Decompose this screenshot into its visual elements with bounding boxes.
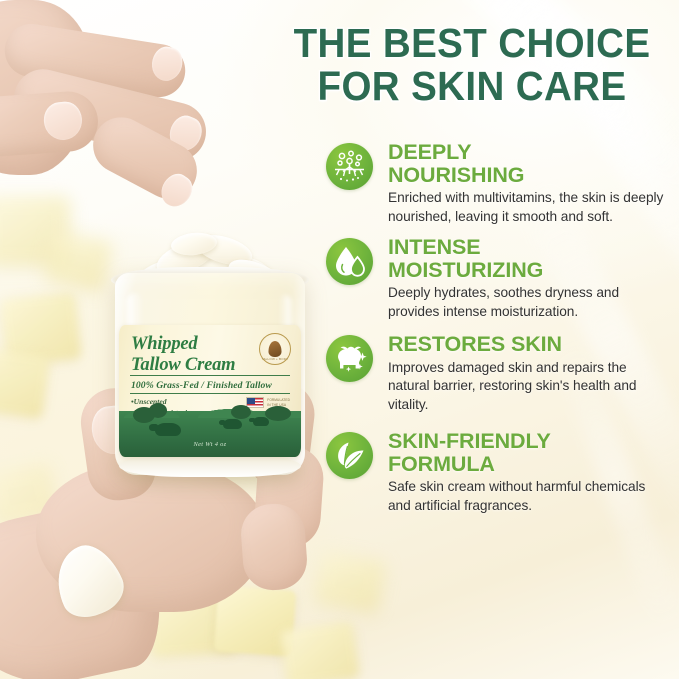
water-droplet-icon: [326, 238, 373, 285]
feature-item-intense-moisturizing: INTENSE MOISTURIZING Deeply hydrates, so…: [326, 236, 666, 321]
feature-list: DEEPLY NOURISHING Enriched with multivit…: [326, 141, 666, 519]
brand-seal: TALLOW + BODY: [259, 333, 291, 365]
page-title: THE BEST CHOICE FOR SKIN CARE: [284, 22, 660, 108]
net-weight-text: Net Wt 4 oz: [119, 441, 301, 448]
feature-body: Enriched with multivitamins, the skin is…: [388, 189, 666, 226]
label-product-name: Whipped Tallow Cream: [131, 334, 277, 376]
feature-item-restores-skin: RESTORES SKIN Improves damaged skin and …: [326, 333, 666, 414]
tree-shape: [149, 403, 167, 418]
feature-item-deeply-nourishing: DEEPLY NOURISHING Enriched with multivit…: [326, 141, 666, 226]
upper-hand: [0, 0, 240, 250]
label-divider: [130, 393, 290, 394]
feature-heading: SKIN-FRIENDLY FORMULA: [388, 430, 666, 475]
seal-droplet-icon: [269, 341, 282, 357]
jar-base: [119, 455, 301, 477]
cow-sparkle-icon: [326, 335, 373, 382]
feature-heading: RESTORES SKIN: [388, 333, 666, 356]
label-name-line1: Whipped: [131, 334, 197, 354]
feature-body: Safe skin cream without harmful chemical…: [388, 478, 666, 515]
leaves-icon: [326, 432, 373, 479]
label-subtitle: 100% Grass-Fed / Finished Tallow: [131, 380, 293, 391]
feature-item-skin-friendly-formula: SKIN-FRIENDLY FORMULA Safe skin cream wi…: [326, 430, 666, 515]
seal-label: TALLOW + BODY: [260, 357, 290, 361]
cow-silhouette: [155, 423, 181, 436]
feature-body: Deeply hydrates, soothes dryness and pro…: [388, 284, 666, 321]
pasture-scene: Net Wt 4 oz: [119, 411, 301, 457]
tree-shape: [231, 405, 251, 419]
label-divider: [130, 375, 290, 376]
label-name-line2: Tallow Cream: [131, 355, 235, 375]
feature-heading: INTENSE MOISTURIZING: [388, 236, 666, 281]
feature-heading: DEEPLY NOURISHING: [388, 141, 666, 186]
infographic-canvas: Whipped Tallow Cream TALLOW + BODY 100% …: [0, 0, 679, 679]
cow-silhouette: [253, 417, 269, 426]
cow-silhouette: [223, 419, 242, 429]
feature-body: Improves damaged skin and repairs the na…: [388, 359, 666, 415]
tree-shape: [265, 406, 291, 421]
nourish-roots-icon: [326, 143, 373, 190]
product-jar: Whipped Tallow Cream TALLOW + BODY 100% …: [103, 237, 317, 482]
product-label: Whipped Tallow Cream TALLOW + BODY 100% …: [119, 325, 301, 457]
